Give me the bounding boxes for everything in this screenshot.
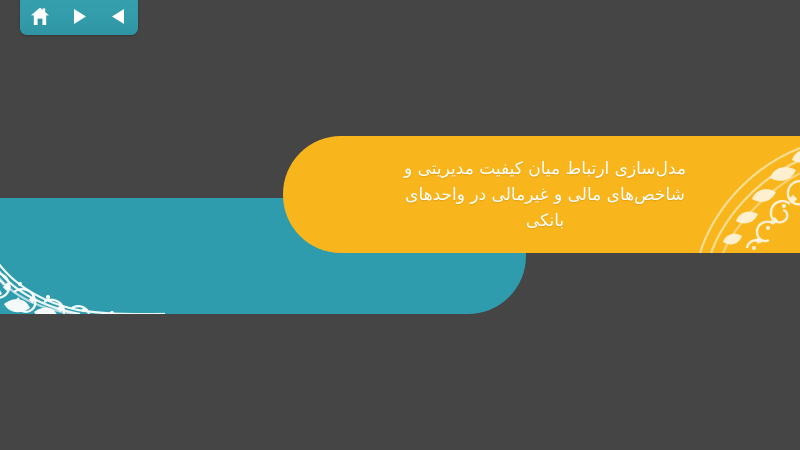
forward-button[interactable] (64, 4, 94, 28)
home-icon (30, 7, 50, 26)
title-banner: مدل‌سازی ارتباط میان کیفیت مدیریتی و شاخ… (283, 136, 800, 253)
triangle-right-icon (72, 8, 87, 25)
presentation-slide: مدل‌سازی ارتباط میان کیفیت مدیریتی و شاخ… (0, 0, 800, 450)
home-button[interactable] (25, 4, 55, 28)
back-button[interactable] (103, 4, 133, 28)
arabesque-ornament-teal (0, 198, 165, 314)
title-line-2: شاخص‌های مالی و غیرمالی در واحدهای (405, 182, 685, 208)
title-line-3: بانکی (526, 208, 564, 234)
triangle-left-icon (111, 8, 126, 25)
navigation-bar (20, 0, 138, 35)
page-title: مدل‌سازی ارتباط میان کیفیت مدیریتی و شاخ… (365, 136, 725, 253)
title-line-1: مدل‌سازی ارتباط میان کیفیت مدیریتی و (404, 156, 686, 182)
